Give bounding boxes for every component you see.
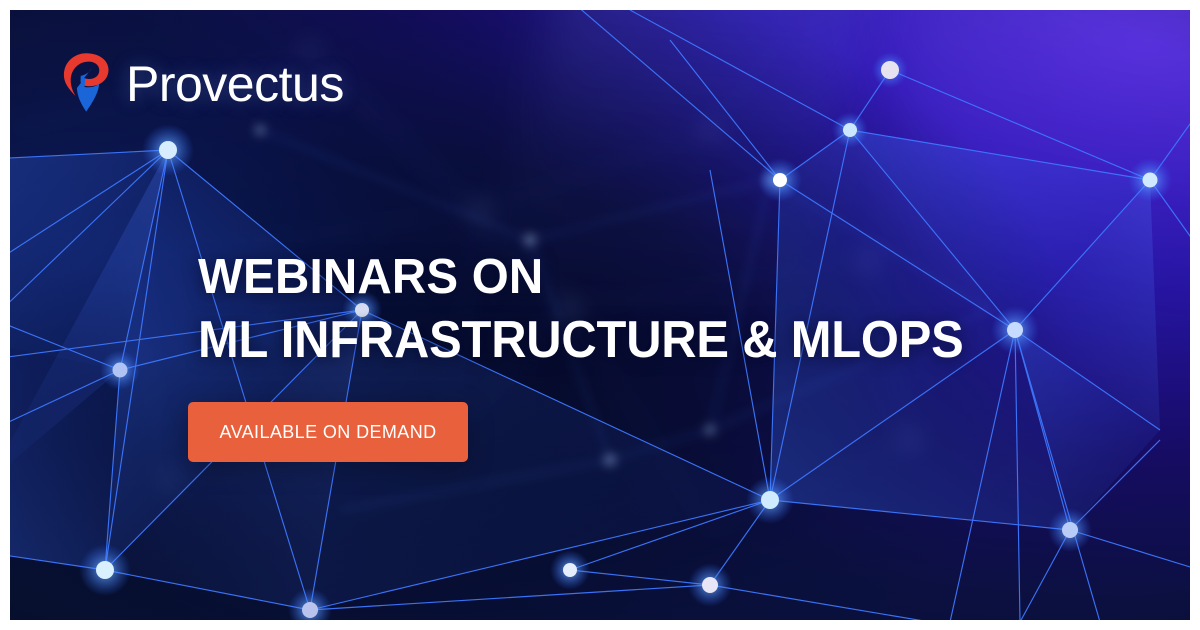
- banner-root: Provectus WEBINARS ON ML INFRASTRUCTURE …: [0, 0, 1200, 630]
- brand-wordmark: Provectus: [126, 59, 344, 109]
- available-on-demand-button[interactable]: AVAILABLE ON DEMAND: [188, 402, 468, 462]
- banner-stage: Provectus WEBINARS ON ML INFRASTRUCTURE …: [10, 10, 1190, 620]
- brand-logo[interactable]: Provectus: [60, 52, 344, 116]
- headline-line-1: WEBINARS ON: [198, 246, 988, 309]
- headline-line-2: ML INFRASTRUCTURE & MLOPS: [198, 309, 964, 372]
- page-title: WEBINARS ON ML INFRASTRUCTURE & MLOPS: [198, 246, 1012, 372]
- provectus-pin-logo-icon: [60, 52, 112, 116]
- hero-copy: WEBINARS ON ML INFRASTRUCTURE & MLOPS: [198, 246, 1012, 372]
